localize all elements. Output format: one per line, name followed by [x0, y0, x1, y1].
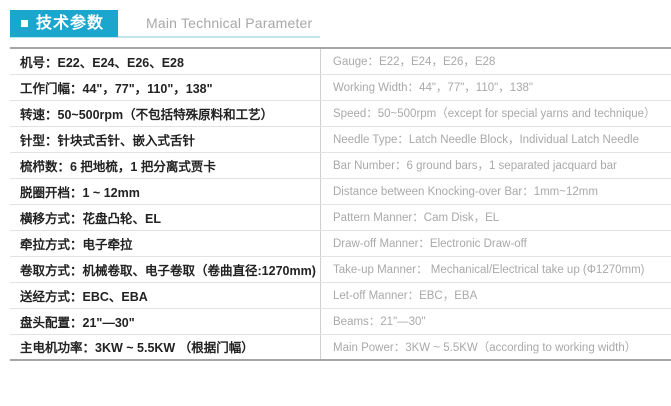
table-row: 脱圈开档：1 ~ 12mm Distance between Knocking-…: [10, 178, 671, 204]
spec-label-cn: 牵拉方式：电子牵拉: [10, 230, 321, 256]
spec-label-cn: 针型：针块式舌针、嵌入式舌针: [10, 126, 321, 152]
section-header: 技术参数 Main Technical Parameter: [0, 0, 671, 40]
table-row: 牵拉方式：电子牵拉 Draw-off Manner：Electronic Dra…: [10, 230, 671, 256]
spec-label-en: Speed：50~500rpm（except for special yarns…: [321, 100, 671, 126]
header-subtitle-en: Main Technical Parameter: [146, 15, 312, 31]
spec-label-cn: 卷取方式：机械卷取、电子卷取（卷曲直径:1270mm): [10, 256, 321, 282]
spec-label-cn: 送经方式：EBC、EBA: [10, 282, 321, 308]
spec-label-cn: 转速：50~500rpm（不包括特殊原料和工艺）: [10, 100, 321, 126]
table-row: 工作门幅：44"，77"，110"，138" Working Width：44"…: [10, 74, 671, 100]
spec-label-en: Working Width：44"，77"，110"，138": [321, 74, 671, 100]
spec-label-en: Beams：21"—30": [321, 308, 671, 334]
spec-label-en: Gauge：E22，E24，E26，E28: [321, 48, 671, 74]
specifications-table-container: 机号：E22、E24、E26、E28 Gauge：E22，E24，E26，E28…: [10, 47, 655, 361]
table-row: 盘头配置：21"—30" Beams：21"—30": [10, 308, 671, 334]
spec-label-en: Take-up Manner： Mechanical/Electrical ta…: [321, 256, 671, 282]
specifications-table-body: 机号：E22、E24、E26、E28 Gauge：E22，E24，E26，E28…: [10, 48, 671, 360]
table-row: 针型：针块式舌针、嵌入式舌针 Needle Type：Latch Needle …: [10, 126, 671, 152]
table-row: 转速：50~500rpm（不包括特殊原料和工艺） Speed：50~500rpm…: [10, 100, 671, 126]
spec-label-cn: 机号：E22、E24、E26、E28: [10, 48, 321, 74]
spec-label-cn: 脱圈开档：1 ~ 12mm: [10, 178, 321, 204]
spec-label-cn: 工作门幅：44"，77"，110"，138": [10, 74, 321, 100]
header-title-cn: 技术参数: [36, 16, 104, 32]
table-row: 横移方式：花盘凸轮、EL Pattern Manner：Cam Disk，EL: [10, 204, 671, 230]
table-row: 送经方式：EBC、EBA Let-off Manner：EBC，EBA: [10, 282, 671, 308]
spec-label-en: Let-off Manner：EBC，EBA: [321, 282, 671, 308]
spec-label-en: Draw-off Manner：Electronic Draw-off: [321, 230, 671, 256]
spec-label-cn: 盘头配置：21"—30": [10, 308, 321, 334]
spec-label-en: Main Power：3KW ~ 5.5KW（according to work…: [321, 334, 671, 360]
spec-label-en: Needle Type：Latch Needle Block，Individua…: [321, 126, 671, 152]
table-row: 梳栉数：6 把地梳，1 把分离式贾卡 Bar Number：6 ground b…: [10, 152, 671, 178]
spec-label-en: Distance between Knocking-over Bar：1mm~1…: [321, 178, 671, 204]
spec-label-cn: 梳栉数：6 把地梳，1 把分离式贾卡: [10, 152, 321, 178]
spec-label-en: Pattern Manner：Cam Disk，EL: [321, 204, 671, 230]
spec-label-cn: 主电机功率：3KW ~ 5.5KW （根据门幅）: [10, 334, 321, 360]
specifications-table: 机号：E22、E24、E26、E28 Gauge：E22，E24，E26，E28…: [10, 47, 671, 361]
table-row: 机号：E22、E24、E26、E28 Gauge：E22，E24，E26，E28: [10, 48, 671, 74]
spec-label-en: Bar Number：6 ground bars，1 separated jac…: [321, 152, 671, 178]
table-row: 主电机功率：3KW ~ 5.5KW （根据门幅） Main Power：3KW …: [10, 334, 671, 360]
header-banner: 技术参数: [10, 10, 118, 37]
table-row: 卷取方式：机械卷取、电子卷取（卷曲直径:1270mm) Take-up Mann…: [10, 256, 671, 282]
spec-label-cn: 横移方式：花盘凸轮、EL: [10, 204, 321, 230]
square-bullet-icon: [21, 20, 28, 27]
